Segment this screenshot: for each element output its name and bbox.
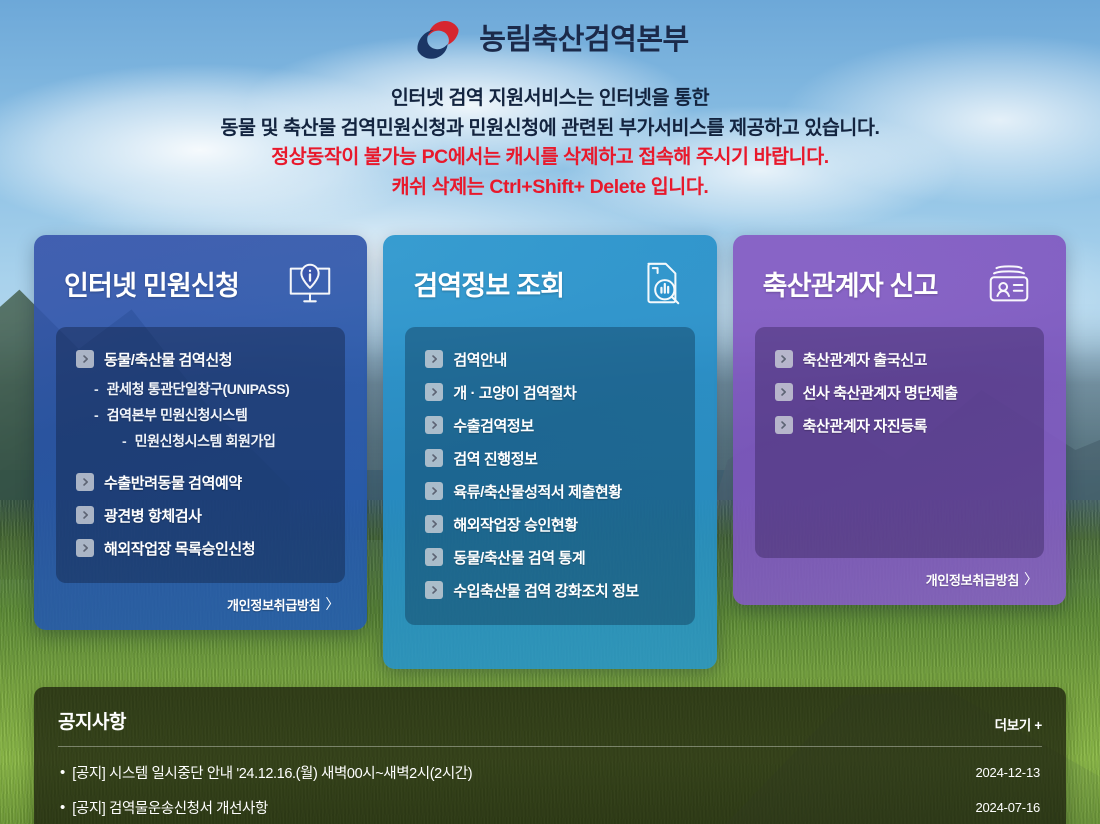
menu-sub-item[interactable]: -관세청 통관단일창구(UNIPASS) (70, 376, 331, 402)
chevron-right-icon: 〉 (325, 597, 339, 611)
menu-item-label: 수출검역정보 (453, 415, 533, 436)
card-3-menu-list: 축산관계자 출국신고선사 축산관계자 명단제출축산관계자 자진등록 (769, 343, 1030, 442)
chevron-right-icon: 〉 (1024, 572, 1038, 586)
menu-item-label: 선사 축산관계자 명단제출 (803, 382, 958, 403)
menu-item-label: 해외작업장 목록승인신청 (104, 538, 255, 559)
card-3-menu-panel: 축산관계자 출국신고선사 축산관계자 명단제출축산관계자 자진등록 (755, 327, 1044, 558)
logo-row[interactable]: 농림축산검역본부 (0, 12, 1100, 68)
menu-sub-item[interactable]: -민원신청시스템 회원가입 (70, 428, 331, 454)
card-1-title: 인터넷 민원신청 (64, 264, 239, 303)
chevron-right-icon (76, 539, 94, 557)
menu-item[interactable]: 검역 진행정보 (419, 442, 680, 475)
dash-icon: - (94, 382, 99, 396)
notice-board-header: 공지사항 더보기 + (58, 707, 1042, 747)
menu-spacer (70, 454, 331, 466)
menu-item[interactable]: 개 · 고양이 검역절차 (419, 376, 680, 409)
card-internet-civil-application[interactable]: 인터넷 민원신청 동물/축산물 검역신청-관세청 통관단일창구(UNIPASS)… (34, 235, 367, 630)
menu-item-label: 개 · 고양이 검역절차 (453, 382, 576, 403)
id-card-person-icon (982, 259, 1036, 309)
privacy-policy-link-1[interactable]: 개인정보취급방침 (227, 595, 320, 614)
card-3-header: 축산관계자 신고 (755, 257, 1044, 309)
menu-sub-item-label: 관세청 통관단일창구(UNIPASS) (107, 379, 290, 399)
menu-item[interactable]: 축산관계자 자진등록 (769, 409, 1030, 442)
intro-line-2: 동물 및 축산물 검역민원신청과 민원신청에 관련된 부가서비스를 제공하고 있… (0, 114, 1100, 144)
menu-item[interactable]: 동물/축산물 검역 통계 (419, 541, 680, 574)
menu-item[interactable]: 육류/축산물성적서 제출현황 (419, 475, 680, 508)
chevron-right-icon (425, 482, 443, 500)
notice-title-text[interactable]: [공지] 검역물운송신청서 개선사항 (72, 797, 268, 818)
menu-item-label: 축산관계자 출국신고 (803, 349, 927, 370)
chevron-right-icon (425, 581, 443, 599)
menu-sub-item-label: 검역본부 민원신청시스템 (107, 405, 248, 425)
bullet-icon: • (60, 800, 65, 815)
chevron-right-icon (775, 416, 793, 434)
chevron-right-icon (425, 515, 443, 533)
menu-item[interactable]: 선사 축산관계자 명단제출 (769, 376, 1030, 409)
card-livestock-worker-report[interactable]: 축산관계자 신고 축산관계자 출국신고선사 축산관계자 명단제출축산관계자 자진… (733, 235, 1066, 605)
menu-item[interactable]: 해외작업장 승인현황 (419, 508, 680, 541)
privacy-policy-link-3[interactable]: 개인정보취급방침 (926, 570, 1019, 589)
card-1-header: 인터넷 민원신청 (56, 257, 345, 309)
taeguk-icon (411, 20, 465, 60)
chevron-right-icon (775, 350, 793, 368)
chevron-right-icon (76, 350, 94, 368)
menu-item[interactable]: 수출검역정보 (419, 409, 680, 442)
notice-date: 2024-12-13 (962, 765, 1041, 780)
menu-item[interactable]: 동물/축산물 검역신청 (70, 343, 331, 376)
notice-row-left: •[공지] 검역물운송신청서 개선사항 (60, 797, 268, 818)
menu-item-label: 수출반려동물 검역예약 (104, 472, 242, 493)
dash-icon: - (122, 434, 127, 448)
card-2-footer (405, 625, 694, 655)
notice-more-link[interactable]: 더보기 + (995, 714, 1042, 734)
card-2-title: 검역정보 조회 (413, 264, 564, 303)
dash-icon: - (94, 408, 99, 422)
chevron-right-icon (425, 383, 443, 401)
warning-line-1: 정상동작이 불가능 PC에서는 캐시를 삭제하고 접속해 주시기 바랍니다. (0, 143, 1100, 173)
menu-item-label: 수입축산물 검역 강화조치 정보 (453, 580, 639, 601)
menu-item-label: 해외작업장 승인현황 (453, 514, 577, 535)
menu-item[interactable]: 수출반려동물 검역예약 (70, 466, 331, 499)
notice-board: 공지사항 더보기 + •[공지] 시스템 일시중단 안내 '24.12.16.(… (34, 687, 1066, 824)
notice-row[interactable]: •[공지] 검역물운송신청서 개선사항2024-07-16 (58, 790, 1042, 824)
notice-board-title: 공지사항 (58, 707, 126, 734)
chevron-right-icon (775, 383, 793, 401)
page-root: 농림축산검역본부 인터넷 검역 지원서비스는 인터넷을 통한 동물 및 축산물 … (0, 0, 1100, 824)
menu-item[interactable]: 축산관계자 출국신고 (769, 343, 1030, 376)
card-1-footer[interactable]: 개인정보취급방침 〉 (56, 583, 345, 616)
card-3-footer[interactable]: 개인정보취급방침 〉 (755, 558, 1044, 591)
notice-row[interactable]: •[공지] 시스템 일시중단 안내 '24.12.16.(월) 새벽00시~새벽… (58, 755, 1042, 790)
organization-name: 농림축산검역본부 (479, 26, 688, 55)
menu-item-label: 검역안내 (453, 349, 507, 370)
chevron-right-icon (76, 506, 94, 524)
notice-date: 2024-07-16 (962, 800, 1041, 815)
intro-text-block: 인터넷 검역 지원서비스는 인터넷을 통한 동물 및 축산물 검역민원신청과 민… (0, 84, 1100, 203)
menu-item[interactable]: 검역안내 (419, 343, 680, 376)
page-header: 농림축산검역본부 인터넷 검역 지원서비스는 인터넷을 통한 동물 및 축산물 … (0, 0, 1100, 203)
service-cards: 인터넷 민원신청 동물/축산물 검역신청-관세청 통관단일창구(UNIPASS)… (0, 235, 1100, 669)
menu-item-label: 축산관계자 자진등록 (803, 415, 927, 436)
card-2-menu-panel: 검역안내개 · 고양이 검역절차수출검역정보검역 진행정보육류/축산물성적서 제… (405, 327, 694, 625)
intro-line-1: 인터넷 검역 지원서비스는 인터넷을 통한 (0, 84, 1100, 114)
menu-item-label: 동물/축산물 검역신청 (104, 349, 232, 370)
menu-item[interactable]: 해외작업장 목록승인신청 (70, 532, 331, 565)
menu-sub-item-label: 민원신청시스템 회원가입 (135, 431, 276, 451)
bullet-icon: • (60, 765, 65, 780)
card-2-menu-list: 검역안내개 · 고양이 검역절차수출검역정보검역 진행정보육류/축산물성적서 제… (419, 343, 680, 607)
document-search-chart-icon (633, 259, 687, 309)
warning-line-2: 캐쉬 삭제는 Ctrl+Shift+ Delete 입니다. (0, 173, 1100, 203)
menu-sub-item[interactable]: -검역본부 민원신청시스템 (70, 402, 331, 428)
menu-item[interactable]: 광견병 항체검사 (70, 499, 331, 532)
card-2-header: 검역정보 조회 (405, 257, 694, 309)
chevron-right-icon (425, 416, 443, 434)
chevron-right-icon (425, 548, 443, 566)
card-1-menu-list: 동물/축산물 검역신청-관세청 통관단일창구(UNIPASS)-검역본부 민원신… (70, 343, 331, 565)
notice-title-text[interactable]: [공지] 시스템 일시중단 안내 '24.12.16.(월) 새벽00시~새벽2… (72, 762, 472, 783)
notice-list: •[공지] 시스템 일시중단 안내 '24.12.16.(월) 새벽00시~새벽… (58, 747, 1042, 824)
menu-item-label: 검역 진행정보 (453, 448, 537, 469)
card-3-title: 축산관계자 신고 (763, 264, 938, 303)
chevron-right-icon (76, 473, 94, 491)
card-1-menu-panel: 동물/축산물 검역신청-관세청 통관단일창구(UNIPASS)-검역본부 민원신… (56, 327, 345, 583)
menu-item-label: 육류/축산물성적서 제출현황 (453, 481, 621, 502)
notice-row-left: •[공지] 시스템 일시중단 안내 '24.12.16.(월) 새벽00시~새벽… (60, 762, 472, 783)
card-quarantine-info-inquiry[interactable]: 검역정보 조회 검역안내개 · 고양이 검역절차수출검역정보검역 진행정보육류/… (383, 235, 716, 669)
menu-item[interactable]: 수입축산물 검역 강화조치 정보 (419, 574, 680, 607)
chevron-right-icon (425, 449, 443, 467)
monitor-info-pin-icon (283, 259, 337, 309)
chevron-right-icon (425, 350, 443, 368)
menu-item-label: 동물/축산물 검역 통계 (453, 547, 585, 568)
menu-item-label: 광견병 항체검사 (104, 505, 202, 526)
